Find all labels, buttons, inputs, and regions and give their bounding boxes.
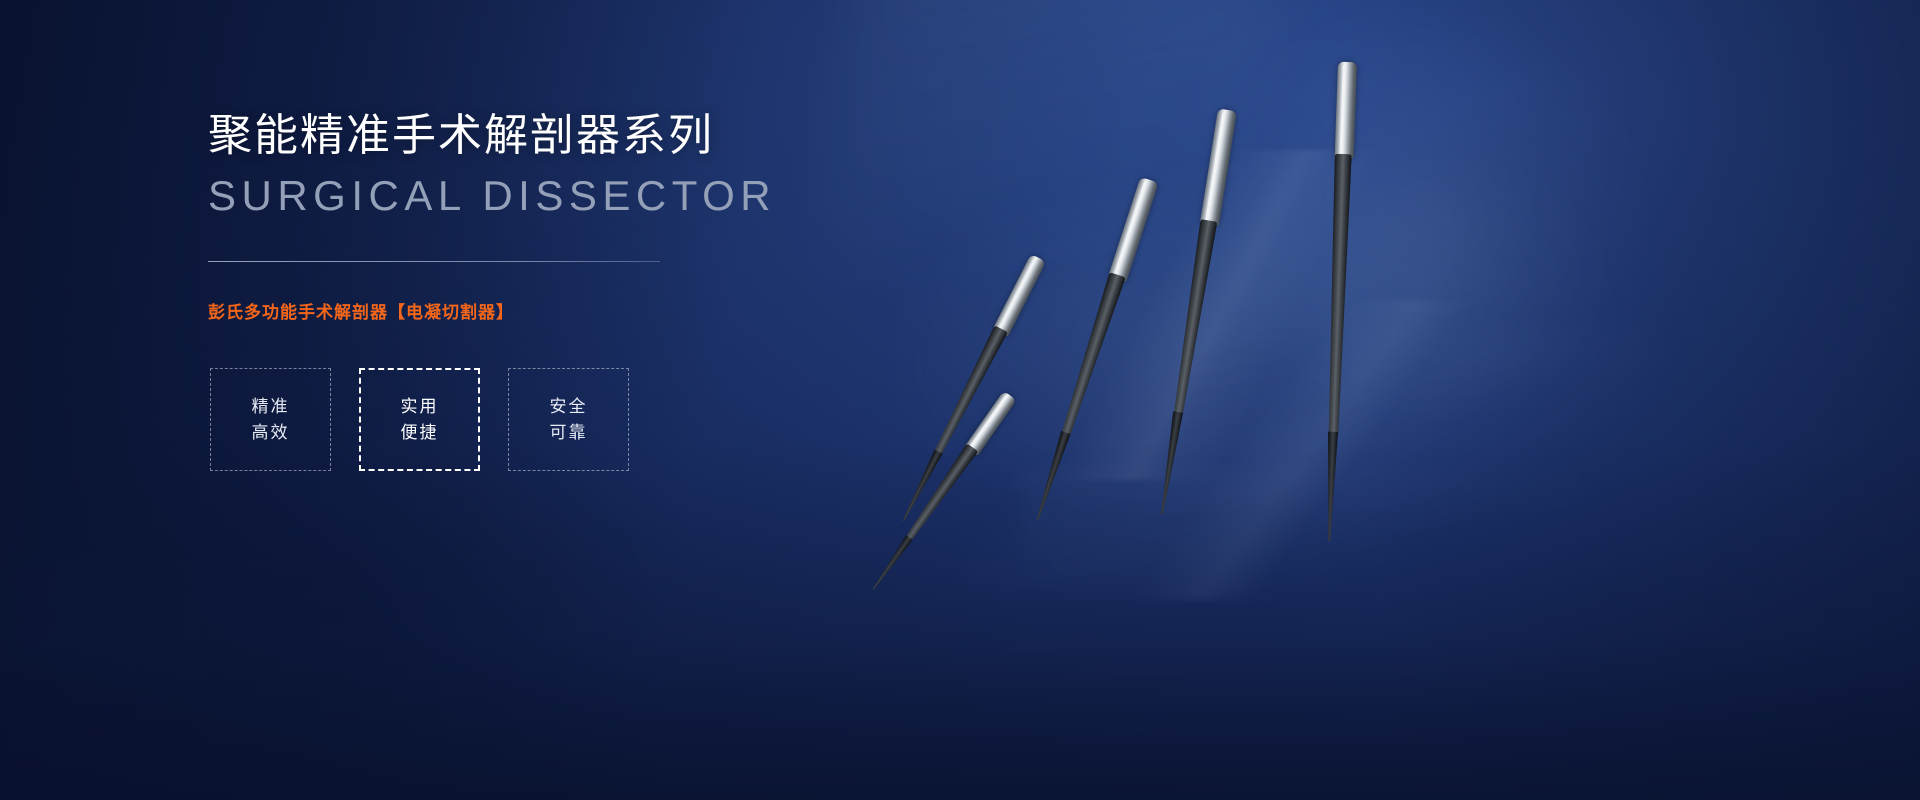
product-hero-banner: 聚能精准手术解剖器系列 SURGICAL DISSECTOR 彭氏多功能手术解剖… — [0, 0, 1920, 800]
banner-text-block: 聚能精准手术解剖器系列 SURGICAL DISSECTOR 彭氏多功能手术解剖… — [208, 110, 968, 323]
feature-box-3-line2: 可靠 — [550, 424, 588, 441]
page-subtitle-english: SURGICAL DISSECTOR — [208, 172, 968, 219]
feature-box-1[interactable]: 精准 高效 — [210, 368, 331, 471]
page-title: 聚能精准手术解剖器系列 — [208, 110, 968, 162]
feature-box-3-line1: 安全 — [550, 398, 588, 415]
product-name-highlight: 彭氏多功能手术解剖器【电凝切割器】 — [208, 298, 968, 323]
feature-box-2-line1: 实用 — [401, 398, 439, 415]
feature-box-2-line2: 便捷 — [401, 424, 439, 441]
title-divider — [208, 261, 660, 262]
feature-box-group: 精准 高效 实用 便捷 安全 可靠 — [210, 368, 629, 471]
feature-box-2[interactable]: 实用 便捷 — [359, 368, 480, 471]
feature-box-1-line2: 高效 — [252, 424, 290, 441]
feature-box-1-line1: 精准 — [252, 398, 290, 415]
feature-box-3[interactable]: 安全 可靠 — [508, 368, 629, 471]
